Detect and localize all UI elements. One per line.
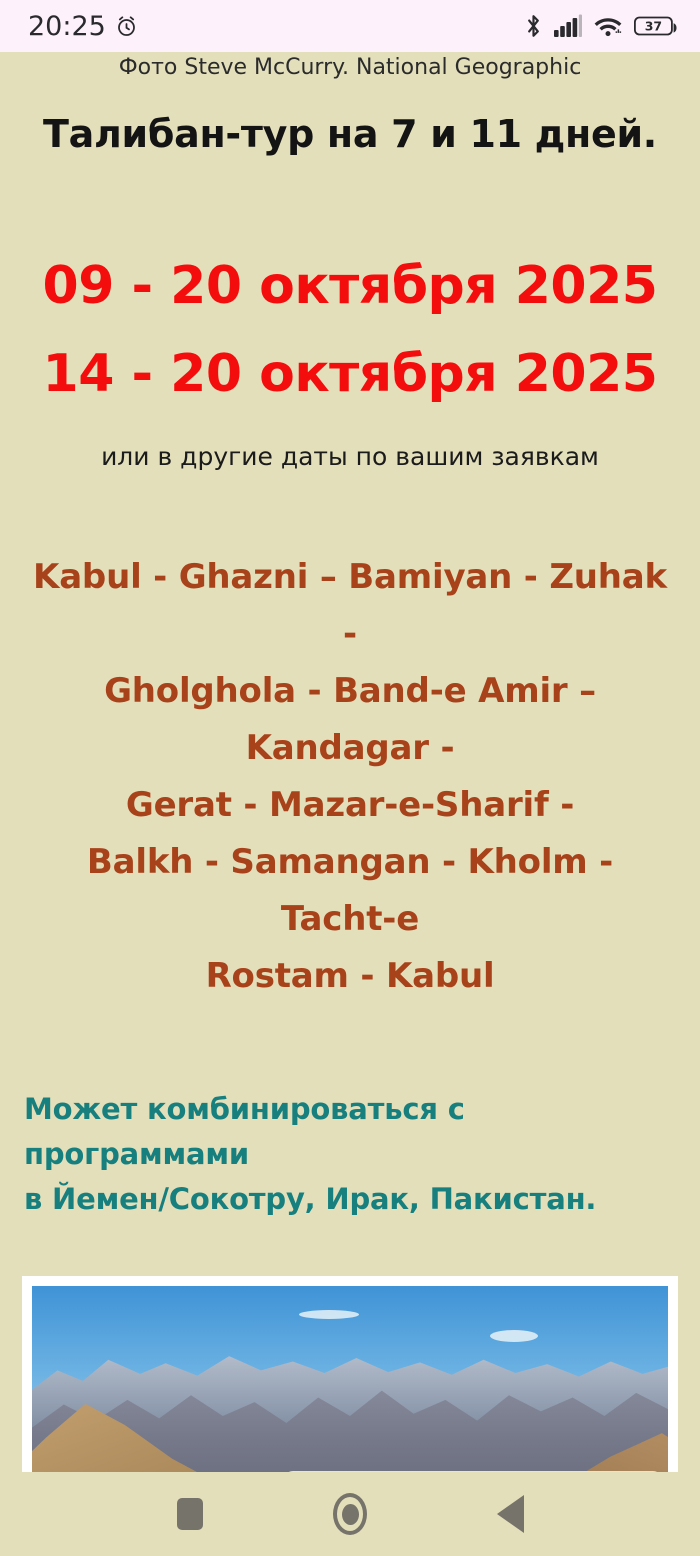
photo-cloud [299,1310,359,1319]
tour-dates: 09 - 20 октября 2025 14 - 20 октября 202… [0,242,700,418]
page-content: Фото Steve McCurry. National Geographic … [0,52,700,1472]
nav-back-button[interactable] [480,1484,540,1544]
circle-home-icon-inner [342,1504,359,1525]
status-bar-left: 20:25 [28,11,139,42]
status-clock: 20:25 [28,11,106,42]
nav-home-button[interactable] [320,1484,380,1544]
route-line-1: Kabul - Ghazni – Bamiyan - Zuhak - [28,549,672,663]
tour-combine-note: Может комбинироваться с программами в Йе… [0,1087,700,1222]
bamiyan-valley-photo [32,1286,668,1472]
route-line-5: Rostam - Kabul [28,948,672,1005]
order-tour-button[interactable]: Заказать этот тур [284,1471,662,1472]
circle-home-icon [333,1493,367,1535]
route-line-3: Gerat - Mazar-e-Sharif - [28,777,672,834]
nav-recents-button[interactable] [160,1484,220,1544]
tour-route: Kabul - Ghazni – Bamiyan - Zuhak - Gholg… [0,549,700,1005]
alarm-clock-icon [114,14,139,39]
status-bar: 20:25 [0,0,700,52]
triangle-back-icon [497,1495,524,1533]
battery-icon: 37 [634,14,678,38]
route-line-2: Gholghola - Band-e Amir –Kandagar - [28,663,672,777]
tour-date-option-2: 14 - 20 октября 2025 [0,330,700,418]
page-title: Талибан-тур на 7 и 11 дней. [0,112,700,156]
combine-line-2: в Йемен/Сокотру, Ирак, Пакистан. [24,1177,676,1222]
tour-dates-note: или в другие даты по вашим заявкам [0,442,700,471]
bluetooth-icon [524,13,543,39]
photo-credit: Фото Steve McCurry. National Geographic [0,56,700,82]
combine-line-1: Может комбинироваться с программами [24,1087,676,1177]
tour-date-option-1: 09 - 20 октября 2025 [0,242,700,330]
wifi-icon [593,14,623,38]
route-line-4: Balkh - Samangan - Kholm - Tacht-e [28,834,672,948]
cellular-signal-icon [554,14,582,38]
photo-card: Заказать этот тур [22,1276,678,1472]
android-nav-bar [0,1472,700,1556]
square-recents-icon [177,1498,203,1530]
battery-level-text: 37 [645,18,662,33]
status-bar-right: 37 [524,13,678,39]
